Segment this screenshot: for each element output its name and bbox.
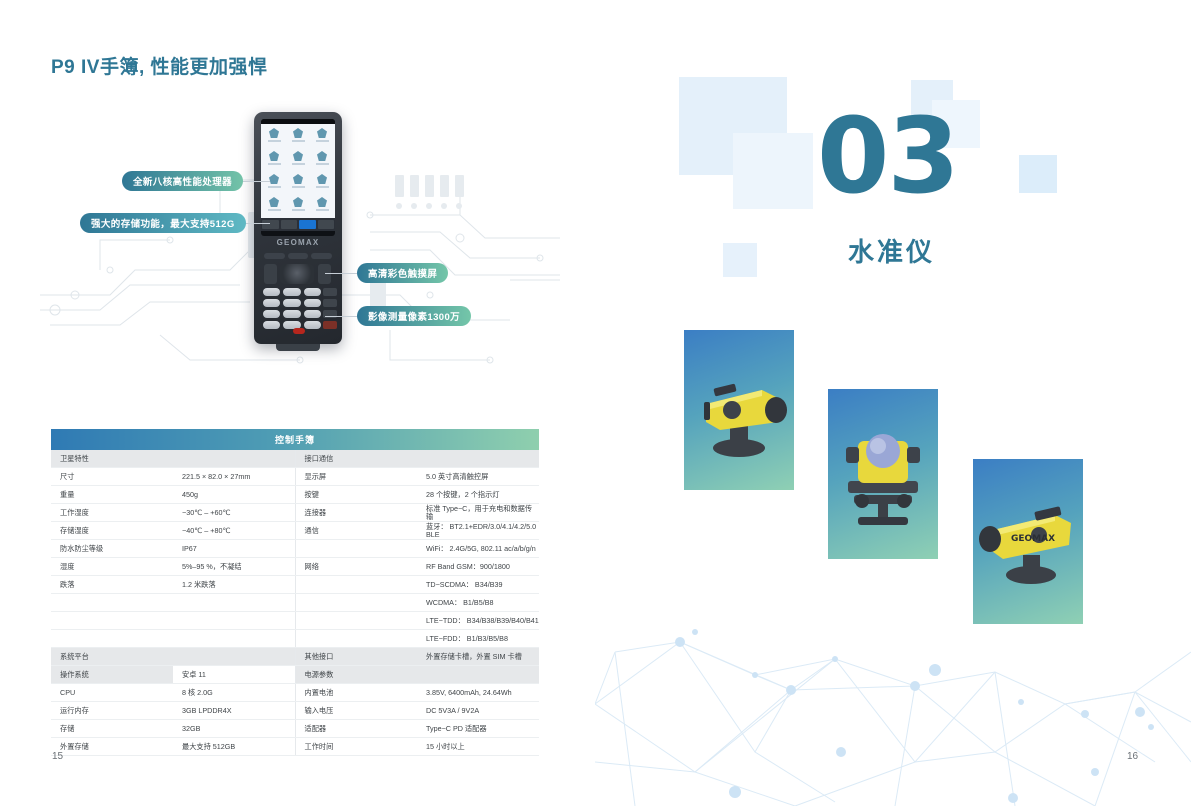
spec-label-left: 跌落 [51,576,173,594]
spec-label-left: 湿度 [51,558,173,576]
spec-label-left: 尺寸 [51,468,173,486]
catalog-spread: P9 IV手簿, 性能更加强悍 [0,0,1191,806]
leader-line [325,273,357,274]
spec-value-left: 221.5 × 82.0 × 27mm [173,468,295,486]
spec-label-right [295,612,417,630]
callout-camera: 影像测量像素1300万 [357,306,471,326]
spec-row: LTE−FDD： B1/B3/B5/B8 [51,630,539,648]
spec-label-left [51,612,173,630]
level-instrument-illustration [684,330,794,490]
spec-row: 存储湿度−40℃ – +80℃通信蓝牙： BT2.1+EDR/3.0/4.1/4… [51,522,539,540]
spec-value-right [417,666,539,684]
level-instrument-illustration: GEOMAX [973,459,1083,624]
level-photo-3: GEOMAX [973,459,1083,624]
tab-tools [299,220,316,229]
level-instrument-illustration [828,389,938,559]
right-function-key [318,264,331,284]
page-number-right: 16 [1127,751,1138,762]
svg-text:GEOMAX: GEOMAX [1011,534,1055,544]
tab-settings [318,220,335,229]
spec-label-left [51,594,173,612]
p9-iv-controller-image: GEOMAX [246,112,350,357]
spec-value-right: 5.0 英寸高清触控屏 [417,468,539,486]
spec-value-right: RF Band GSM：900/1800 [417,558,539,576]
spec-row: WCDMA： B1/B5/B8 [51,594,539,612]
callout-touchscreen: 高清彩色触摸屏 [357,263,448,283]
app-icon [286,195,310,218]
spec-value-left [173,612,295,630]
spec-row: 运行内存3GB LPDDR4X输入电压DC 5V3A / 9V2A [51,702,539,720]
spec-row: 卫星特性接口通信 [51,450,539,468]
spec-row: 存储32GB适配器Type−C PD 适配器 [51,720,539,738]
spec-value-left: 5%–95 %，不凝结 [173,558,295,576]
spec-value-left: 1.2 米跌落 [173,576,295,594]
decor-square [723,243,757,277]
app-grid [261,124,335,218]
spec-value-right: Type−C PD 适配器 [417,720,539,738]
spec-row: 外置存储最大支持 512GB工作时间15 小时以上 [51,738,539,756]
spec-label-right [295,630,417,648]
spec-value-left [173,594,295,612]
spec-value-right: 28 个按键，2 个指示灯 [417,486,539,504]
spec-row: 重量450g按键28 个按键，2 个指示灯 [51,486,539,504]
level-photo-1 [684,330,794,490]
left-function-key [264,264,277,284]
spec-value-left: 8 核 2.0G [173,684,295,702]
spec-value-left: 450g [173,486,295,504]
spec-label-right: 网络 [295,558,417,576]
spec-row: CPU8 核 2.0G内置电池3.85V, 6400mAh, 24.64Wh [51,684,539,702]
spec-label-left: 系统平台 [51,648,173,666]
spec-value-left: −40℃ – +80℃ [173,522,295,540]
level-photo-2 [828,389,938,559]
spec-label-left: 卫星特性 [51,450,173,468]
spec-value-left [173,450,295,468]
spec-value-right: 15 小时以上 [417,738,539,756]
geomax-logo: GEOMAX [254,238,342,247]
soft-key-row [264,253,332,259]
spec-table-body: 卫星特性接口通信尺寸221.5 × 82.0 × 27mm显示屏5.0 英寸高清… [51,450,539,756]
page-number-left: 15 [52,751,63,762]
spec-row: LTE−TDD： B34/B38/B39/B40/B41 [51,612,539,630]
spec-value-left: IP67 [173,540,295,558]
spec-row: 防水防尘等级IP67WiFi： 2.4G/5G, 802.11 ac/a/b/g… [51,540,539,558]
spec-label-right: 接口通信 [295,450,417,468]
spec-label-right: 输入电压 [295,702,417,720]
app-icon [286,172,310,195]
spec-label-right: 按键 [295,486,417,504]
app-icon [310,149,334,172]
spec-label-right: 工作时间 [295,738,417,756]
app-icon [310,126,334,149]
left-page: P9 IV手簿, 性能更加强悍 [0,0,595,806]
spec-table: 控制手簿 卫星特性接口通信尺寸221.5 × 82.0 × 27mm显示屏5.0… [51,429,539,756]
app-icon [262,172,286,195]
decor-square [1019,155,1057,193]
spec-label-right: 显示屏 [295,468,417,486]
app-icon [262,126,286,149]
spec-label-left: 操作系统 [51,666,173,684]
app-icon [286,149,310,172]
spec-label-right: 通信 [295,522,417,540]
decor-square [733,133,813,209]
spec-value-right [417,450,539,468]
app-icon [286,126,310,149]
spec-label-right: 连接器 [295,504,417,522]
spec-label-left: 外置存储 [51,738,173,756]
app-icon [262,149,286,172]
tab-home [262,220,279,229]
spec-value-left: 3GB LPDDR4X [173,702,295,720]
function-key-column [323,288,337,329]
spec-value-right: TD−SCDMA： B34/B39 [417,576,539,594]
spec-label-left: 重量 [51,486,173,504]
app-icon [310,172,334,195]
spec-value-right: 3.85V, 6400mAh, 24.64Wh [417,684,539,702]
network-mesh-graphic [595,612,1191,806]
spec-row: 湿度5%–95 %，不凝结网络RF Band GSM：900/1800 [51,558,539,576]
app-icon [262,195,286,218]
spec-label-left: CPU [51,684,173,702]
spec-label-right [295,576,417,594]
device-base [276,344,320,351]
spec-value-right: DC 5V3A / 9V2A [417,702,539,720]
callout-storage: 强大的存储功能，最大支持512G [80,213,246,233]
spec-label-left [51,630,173,648]
device-screen [261,119,335,236]
spec-value-right: WiFi： 2.4G/5G, 802.11 ac/a/b/g/n [417,540,539,558]
navigation-pad [280,264,314,284]
spec-table-title: 控制手簿 [51,429,539,450]
spec-label-left: 存储湿度 [51,522,173,540]
spec-row: 尺寸221.5 × 82.0 × 27mm显示屏5.0 英寸高清触控屏 [51,468,539,486]
spec-label-right: 其他接口 [295,648,417,666]
right-page: 03 水准仪 [595,0,1191,806]
spec-value-left: 最大支持 512GB [173,738,295,756]
tab-survey [281,220,298,229]
spec-label-left: 运行内存 [51,702,173,720]
spec-label-left: 存储 [51,720,173,738]
spec-value-right: 蓝牙： BT2.1+EDR/3.0/4.1/4.2/5.0 BLE [417,522,539,540]
spec-label-left: 工作湿度 [51,504,173,522]
spec-label-right: 适配器 [295,720,417,738]
callout-processor: 全新八核高性能处理器 [122,171,243,191]
spec-row: 操作系统安卓 11电源参数 [51,666,539,684]
spec-label-right: 内置电池 [295,684,417,702]
spec-row: 系统平台其他接口外置存储卡槽，外置 SIM 卡槽 [51,648,539,666]
spec-value-right: LTE−TDD： B34/B38/B39/B40/B41 [417,612,539,630]
leader-line [325,316,357,317]
section-number: 03 [817,104,958,208]
device-body: GEOMAX [254,112,342,344]
power-button [293,328,305,334]
spec-value-right: 标准 Type−C，用于充电和数据传输 [417,504,539,522]
numeric-keypad [263,288,321,329]
spec-value-right: 外置存储卡槽，外置 SIM 卡槽 [417,648,539,666]
spec-label-right [295,594,417,612]
spec-value-left [173,648,295,666]
spec-value-left: 安卓 11 [173,666,295,684]
spec-value-right: WCDMA： B1/B5/B8 [417,594,539,612]
spec-value-left: −30℃ – +60℃ [173,504,295,522]
app-icon [310,195,334,218]
page-title: P9 IV手簿, 性能更加强悍 [51,52,268,79]
spec-label-right [295,540,417,558]
screen-tab-bar [261,218,335,231]
spec-label-left: 防水防尘等级 [51,540,173,558]
spec-value-left [173,630,295,648]
spec-label-right: 电源参数 [295,666,417,684]
spec-row: 工作湿度−30℃ – +60℃连接器标准 Type−C，用于充电和数据传输 [51,504,539,522]
spec-value-right: LTE−FDD： B1/B3/B5/B8 [417,630,539,648]
spec-row: 跌落1.2 米跌落TD−SCDMA： B34/B39 [51,576,539,594]
spec-value-left: 32GB [173,720,295,738]
section-title: 水准仪 [848,232,935,269]
